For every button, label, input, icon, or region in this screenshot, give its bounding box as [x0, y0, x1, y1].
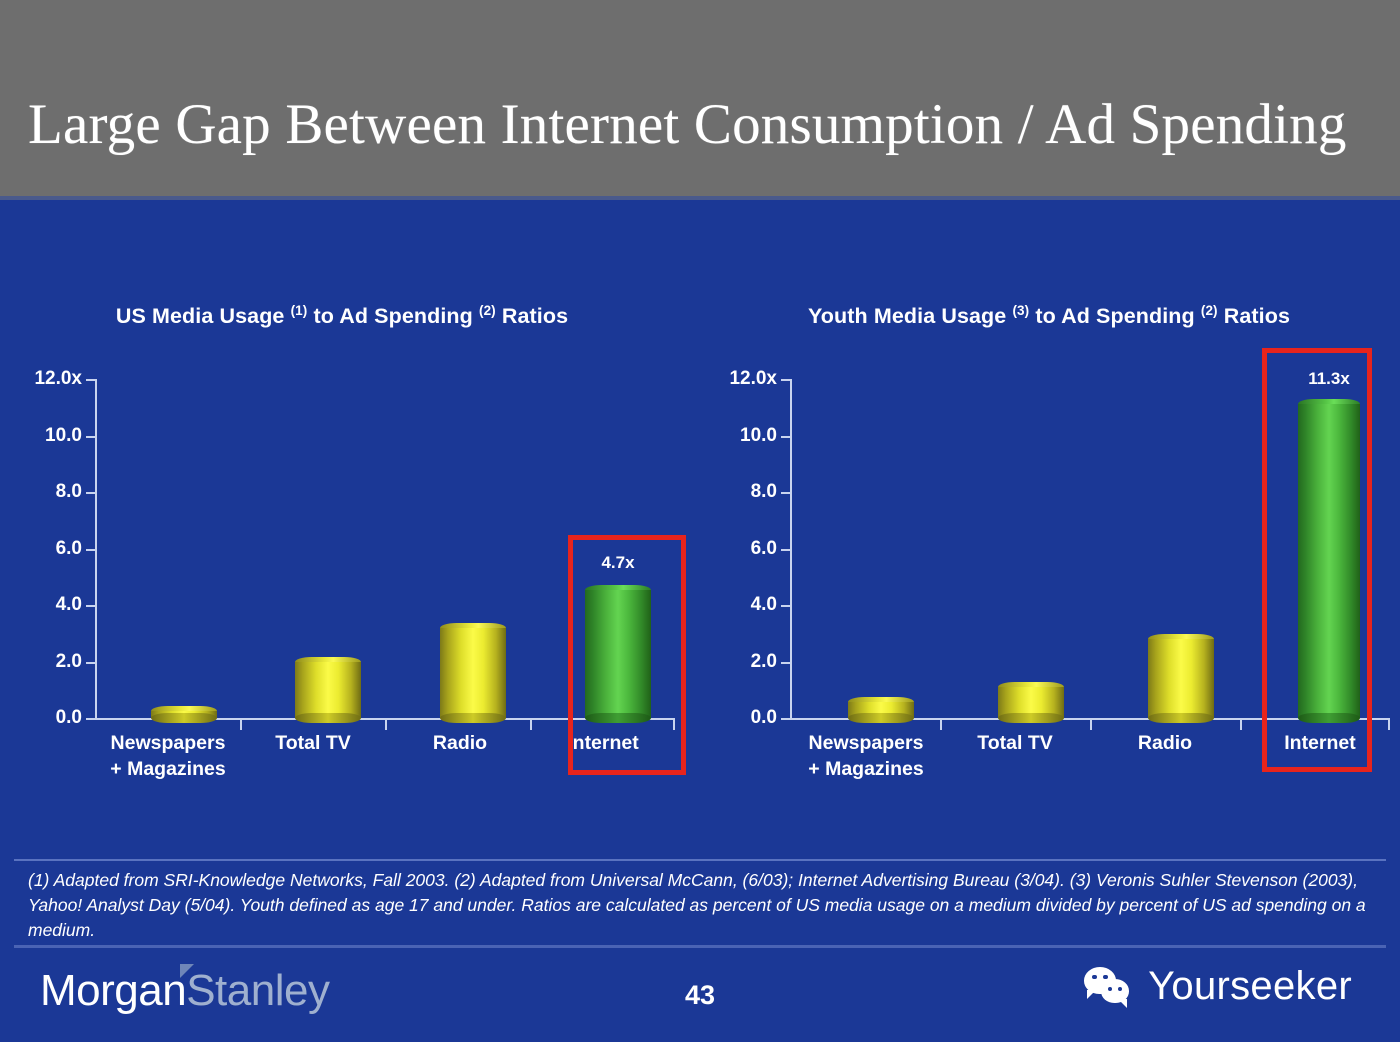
- chart-title-youth-media-usage: Youth Media Usage (3) to Ad Spending (2)…: [704, 294, 1394, 333]
- category-label-total-tv: Total TV: [228, 730, 398, 756]
- y-axis-line-left: [95, 379, 97, 720]
- y-axis-line-right: [790, 379, 792, 720]
- y-tick-8: 8.0: [751, 481, 777, 503]
- bar-body: [295, 662, 361, 718]
- wechat-bubble-small: [1101, 979, 1129, 1003]
- x-axis-separator-2: [385, 720, 387, 730]
- y-axis-labels-right: 12.0x 10.0 8.0 6.0 4.0 2.0 0.0: [695, 379, 777, 718]
- y-axis-labels-left: 12.0x 10.0 8.0 6.0 4.0 2.0 0.0: [0, 379, 82, 718]
- bar-base: [585, 713, 651, 723]
- footnote-divider-bottom: [14, 945, 1386, 948]
- bar-radio: [1148, 634, 1214, 718]
- y-tick-2: 2.0: [56, 651, 82, 673]
- plot-area-left: 4.7x: [95, 379, 675, 718]
- y-tick-0: 0.0: [751, 707, 777, 729]
- x-axis-separator-4: [673, 720, 675, 730]
- bar-internet: [1298, 399, 1360, 718]
- plot-area-right: 11.3x: [790, 379, 1390, 718]
- chart-title-text-a: US Media Usage: [116, 304, 291, 328]
- category-label-radio: Radio: [380, 730, 540, 756]
- y-axis-tick-8: [781, 492, 790, 494]
- y-tick-10: 10.0: [45, 425, 82, 447]
- category-label-total-tv: Total TV: [930, 730, 1100, 756]
- y-tick-2: 2.0: [751, 651, 777, 673]
- bar-radio: [440, 623, 506, 718]
- y-tick-6: 6.0: [751, 538, 777, 560]
- chart-title-us-media-usage: US Media Usage (1) to Ad Spending (2) Ra…: [0, 294, 692, 333]
- bar-base: [295, 713, 361, 723]
- bar-base: [1298, 713, 1360, 723]
- bar-newspapers-magazines: [848, 697, 914, 718]
- category-label-radio: Radio: [1085, 730, 1245, 756]
- bar-body: [1298, 404, 1360, 718]
- y-axis-tick-12: [781, 379, 790, 381]
- y-tick-12: 12.0x: [729, 368, 777, 390]
- y-tick-8: 8.0: [56, 481, 82, 503]
- y-tick-6: 6.0: [56, 538, 82, 560]
- y-axis-tick-12: [86, 379, 95, 381]
- slide-footer: MorganStanley 43 Yourseeker: [0, 952, 1400, 1042]
- bar-body: [1148, 639, 1214, 718]
- y-axis-tick-2: [86, 662, 95, 664]
- y-axis-tick-4: [86, 605, 95, 607]
- chart-title-text-c: Ratios: [496, 304, 568, 328]
- wechat-eye: [1103, 975, 1108, 980]
- bar-base: [998, 713, 1064, 723]
- bar-internet: [585, 585, 651, 718]
- bar-base: [440, 713, 506, 723]
- wechat-eye: [1108, 987, 1112, 991]
- x-axis-separator-3: [1240, 720, 1242, 730]
- y-axis-tick-2: [781, 662, 790, 664]
- slide-body: US Media Usage (1) to Ad Spending (2) Ra…: [0, 200, 1400, 1042]
- wechat-icon: [1084, 967, 1136, 1007]
- y-tick-4: 4.0: [56, 594, 82, 616]
- footnote-ref-2: (2): [479, 303, 496, 318]
- footnote-text: (1) Adapted from SRI-Knowledge Networks,…: [28, 868, 1368, 943]
- y-tick-4: 4.0: [751, 594, 777, 616]
- footnote-ref-2b: (2): [1201, 303, 1218, 318]
- y-axis-tick-10: [86, 436, 95, 438]
- wechat-eye: [1118, 987, 1122, 991]
- x-axis-separator-1: [240, 720, 242, 730]
- morgan-stanley-triangle-icon: [180, 964, 194, 978]
- bar-total-tv: [295, 657, 361, 718]
- bar-base: [151, 713, 217, 723]
- y-axis-tick-4: [781, 605, 790, 607]
- brand-name: Yourseeker: [1148, 964, 1352, 1009]
- y-tick-12: 12.0x: [34, 368, 82, 390]
- chart-title-text-b: to Ad Spending: [1029, 304, 1201, 328]
- y-axis-tick-8: [86, 492, 95, 494]
- page-title: Large Gap Between Internet Consumption /…: [28, 92, 1347, 157]
- footnote-ref-3: (3): [1012, 303, 1029, 318]
- x-axis-separator-1: [940, 720, 942, 730]
- wechat-eye: [1092, 975, 1097, 980]
- bar-total-tv: [998, 682, 1064, 718]
- slide-header: Large Gap Between Internet Consumption /…: [0, 0, 1400, 198]
- x-axis-separator-2: [1090, 720, 1092, 730]
- footnote-divider-top: [14, 859, 1386, 861]
- y-axis-tick-6: [86, 549, 95, 551]
- category-label-internet: Internet: [1240, 730, 1400, 756]
- chart-title-text-c: Ratios: [1218, 304, 1290, 328]
- bar-newspapers-magazines: [151, 706, 217, 718]
- y-tick-10: 10.0: [740, 425, 777, 447]
- bar-base: [848, 713, 914, 723]
- category-label-newspapers-magazines: Newspapers + Magazines: [776, 730, 956, 782]
- footnote-ref-1: (1): [291, 303, 308, 318]
- y-tick-0: 0.0: [56, 707, 82, 729]
- y-axis-tick-6: [781, 549, 790, 551]
- x-axis-separator-3: [530, 720, 532, 730]
- bar-body: [585, 590, 651, 718]
- chart-title-text-a: Youth Media Usage: [808, 304, 1013, 328]
- brand-watermark: Yourseeker: [1084, 964, 1352, 1009]
- y-axis-tick-0: [781, 718, 790, 720]
- value-label-internet: 4.7x: [573, 553, 663, 573]
- chart-title-text-b: to Ad Spending: [307, 304, 479, 328]
- bar-base: [1148, 713, 1214, 723]
- y-axis-tick-10: [781, 436, 790, 438]
- y-axis-tick-0: [86, 718, 95, 720]
- bar-body: [440, 628, 506, 718]
- x-axis-separator-4: [1388, 720, 1390, 730]
- category-label-internet: Internet: [523, 730, 683, 756]
- value-label-internet: 11.3x: [1284, 369, 1374, 389]
